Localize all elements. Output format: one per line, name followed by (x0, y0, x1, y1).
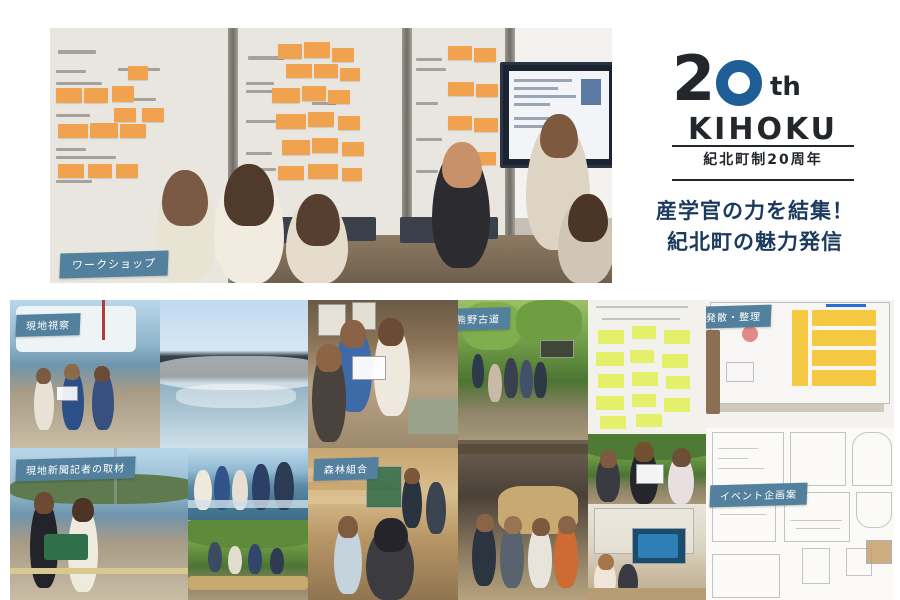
participant-head (224, 164, 274, 226)
caption-kumano-kodo: 熊野古道 (458, 307, 511, 331)
logo-digit-2: 2 (672, 48, 713, 110)
photo-event-sketches: イベント企画案 (706, 428, 894, 600)
poster-canvas: ワークショップ 2 th KIHOKU 紀北町制20周年 産学官の力を結集！ 紀… (0, 0, 900, 600)
workshop-whiteboard-scene (50, 28, 612, 283)
anniversary-brand-block: 2 th KIHOKU 紀北町制20周年 産学官の力を結集！ 紀北町の魅力発信 (620, 46, 900, 276)
logo-wordmark-kihoku: KIHOKU (670, 112, 856, 147)
photo-market-booth (588, 504, 706, 600)
caption-event-sketches: イベント企画案 (709, 483, 807, 508)
photo-timber-warehouse (458, 440, 588, 600)
caption-site-visit: 現地視察 (15, 313, 80, 337)
photo-log-raft (188, 520, 308, 600)
logo-japanese-subtitle: 紀北町制20周年 (670, 149, 856, 169)
tagline-line-1: 産学官の力を結集！ (620, 196, 890, 227)
photo-info-board: 情報発散・整理 (706, 300, 894, 428)
logo-20th: 2 th (672, 54, 852, 116)
hero-section: ワークショップ 2 th KIHOKU 紀北町制20周年 産学官の力を結集！ 紀… (0, 0, 900, 292)
caption-newspaper-interview: 現地新聞記者の取材 (15, 456, 135, 481)
photo-kumano-kodo: 熊野古道 (458, 300, 588, 440)
logo-rule-bottom (672, 179, 854, 181)
facilitator-head (540, 114, 578, 158)
photo-newspaper-interview: 現地新聞記者の取材 (10, 448, 188, 600)
caption-forestry-union: 森林組合 (313, 457, 378, 481)
logo-digit-0-ring (716, 60, 762, 106)
logo-th-suffix: th (770, 72, 801, 102)
participant-head (442, 142, 482, 188)
hero-caption-workshop: ワークショップ (59, 250, 168, 278)
photo-site-visit-boat: 現地視察 (10, 300, 160, 448)
photo-fishery-interview (308, 300, 458, 448)
photo-collage-grid: 現地視察 (0, 296, 900, 600)
tagline-line-2: 紀北町の魅力発信 (620, 227, 890, 258)
participant-head (568, 194, 608, 242)
logo-rule-top (672, 145, 854, 147)
photo-forestry-union: 森林組合 (308, 448, 458, 600)
caption-info-board: 情報発散・整理 (706, 305, 772, 330)
photo-boat-briefing (188, 448, 308, 520)
poster-tagline: 産学官の力を結集！ 紀北町の魅力発信 (620, 196, 890, 258)
hero-photo-workshop: ワークショップ (50, 28, 612, 283)
participant-head (162, 170, 208, 226)
photo-sea-wake (160, 300, 308, 448)
photo-trail-sign-group (588, 434, 706, 504)
photo-sticky-mapping (588, 300, 706, 434)
participant-head (296, 194, 340, 246)
